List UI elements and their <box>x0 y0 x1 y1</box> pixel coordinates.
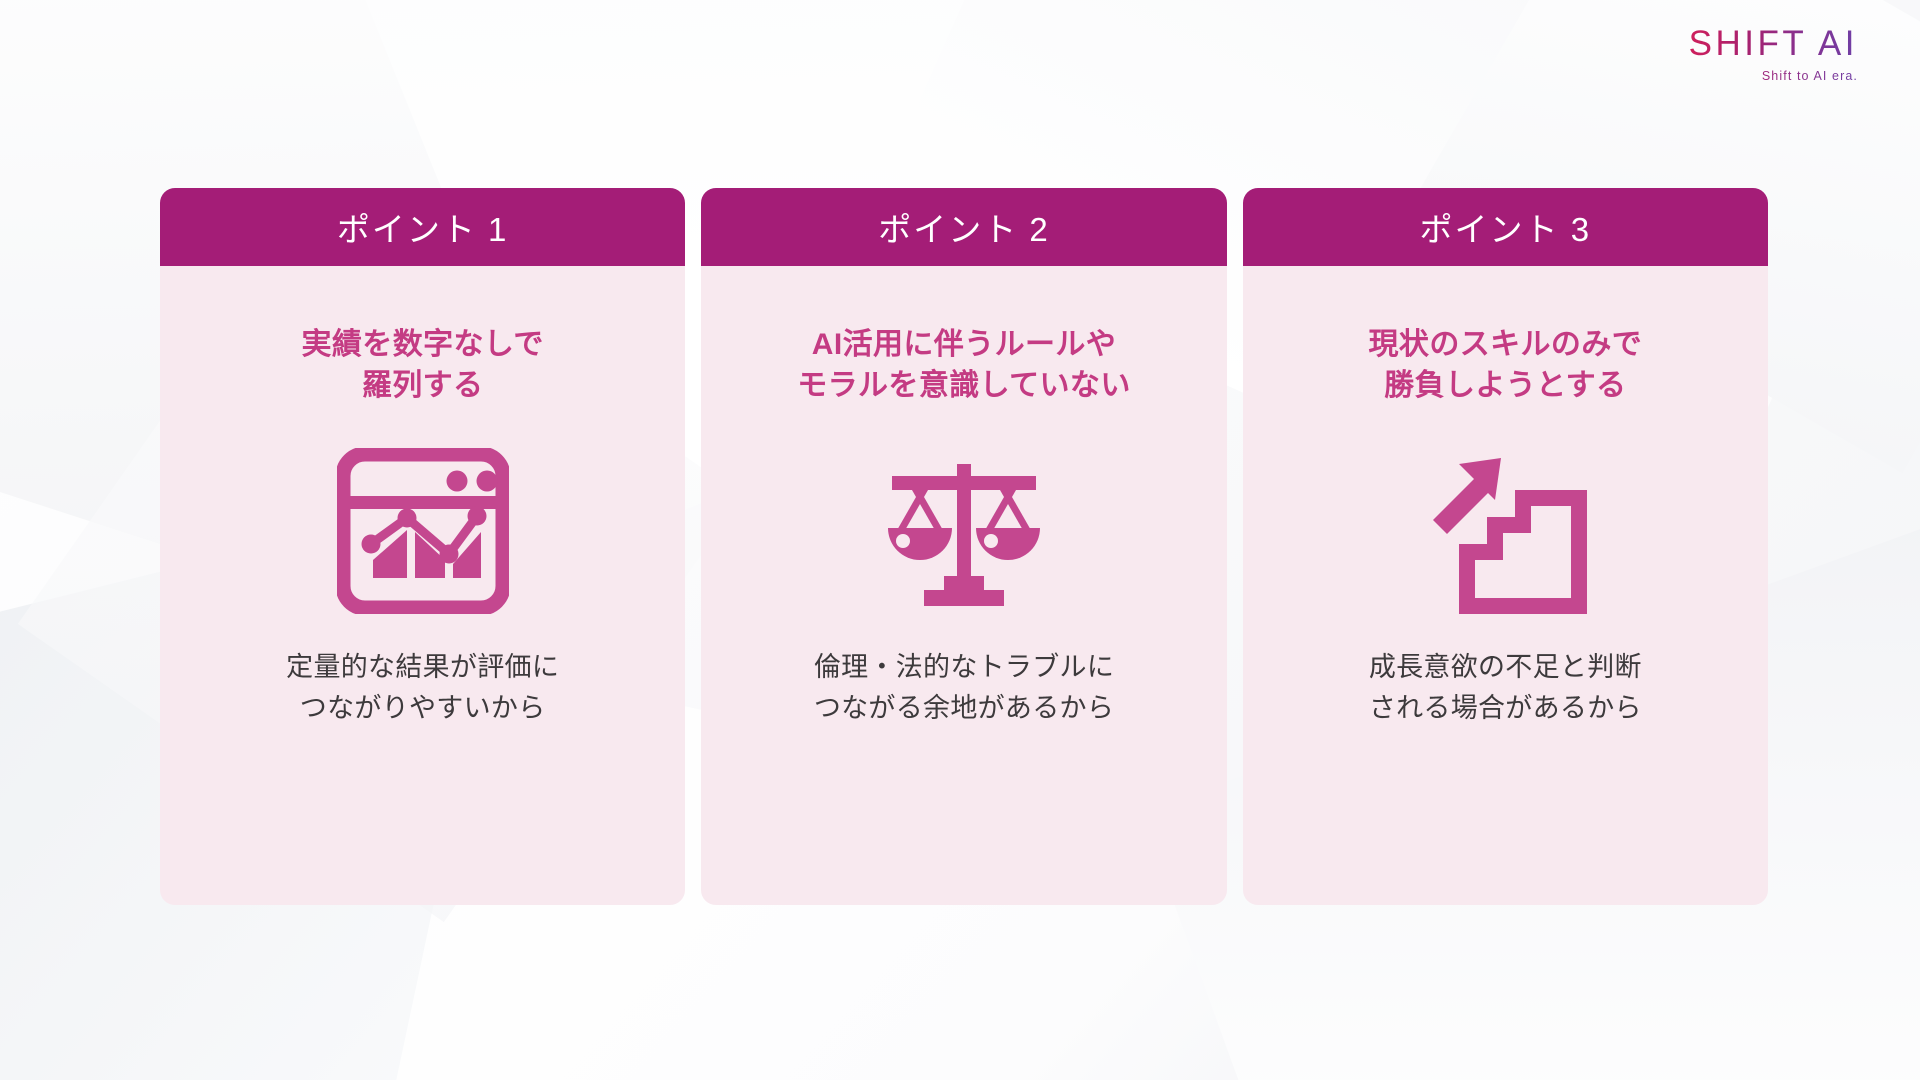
shift-ai-logo: SHIFT AI Shift to AI era. <box>1689 26 1858 83</box>
point-card-3-description: 成長意欲の不足と判断 される場合があるから <box>1349 647 1662 729</box>
point-card-3: ポイント 3 現状のスキルのみで 勝負しようとする 成長意欲の不足と判断 される… <box>1243 188 1768 905</box>
point-card-1: ポイント 1 実績を数字なしで 羅列する 定量的な結果が評価に つながりや <box>160 188 685 905</box>
point-card-2-description: 倫理・法的なトラブルに つながる余地があるから <box>794 647 1134 729</box>
stairs-growth-arrow-icon <box>1419 441 1591 621</box>
point-card-1-description: 定量的な結果が評価に つながりやすいから <box>266 647 579 729</box>
chart-window-icon <box>337 441 509 621</box>
point-card-1-title: 実績を数字なしで 羅列する <box>282 324 564 407</box>
point-card-3-header-label: ポイント 3 <box>1420 203 1592 251</box>
point-card-2-title: AI活用に伴うルールや モラルを意識していない <box>777 324 1151 407</box>
point-card-2-header: ポイント 2 <box>701 188 1226 266</box>
point-card-3-title: 現状のスキルのみで 勝負しようとする <box>1349 324 1663 407</box>
logo-tagline: Shift to AI era. <box>1689 70 1858 83</box>
balance-scale-icon <box>876 441 1052 621</box>
logo-wordmark: SHIFT AI <box>1689 26 1858 61</box>
point-card-3-header: ポイント 3 <box>1243 188 1768 266</box>
point-card-1-header: ポイント 1 <box>160 188 685 266</box>
point-card-2-header-label: ポイント 2 <box>878 203 1050 251</box>
point-card-1-header-label: ポイント 1 <box>337 203 509 251</box>
point-card-2: ポイント 2 AI活用に伴うルールや モラルを意識していない <box>701 188 1226 905</box>
points-card-group: ポイント 1 実績を数字なしで 羅列する 定量的な結果が評価に つながりや <box>160 188 1768 905</box>
